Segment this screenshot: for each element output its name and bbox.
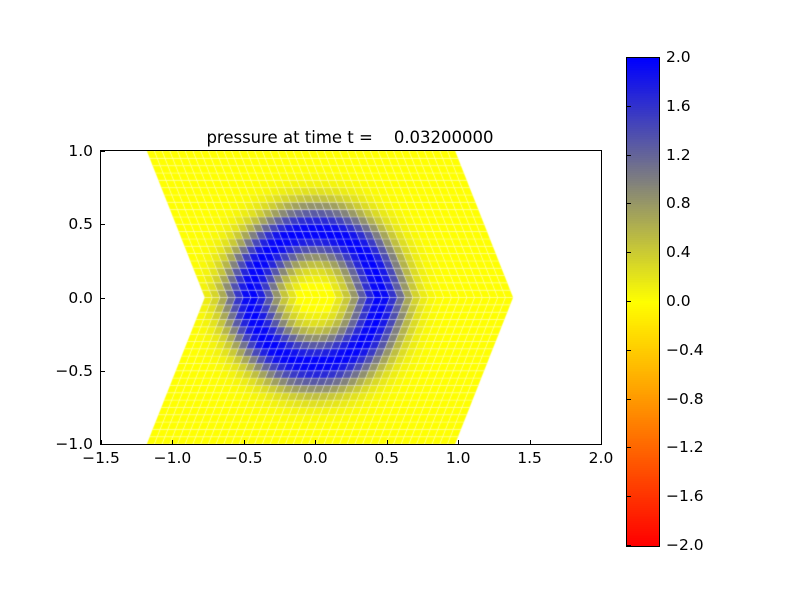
- colorbar-tickmark: [626, 545, 631, 546]
- colorbar-tickmark: [626, 155, 631, 156]
- colorbar-tick-label: 2.0: [666, 49, 691, 65]
- y-tickmark: [101, 371, 105, 372]
- y-tickmark: [101, 224, 105, 225]
- y-tickmark: [101, 298, 105, 299]
- colorbar-gradient: [627, 58, 659, 546]
- colorbar-tick-label: −1.2: [666, 439, 704, 455]
- x-tick-label: 1.0: [428, 450, 488, 466]
- colorbar-tickmark: [626, 57, 631, 58]
- colorbar-tick-label: −1.6: [666, 488, 704, 504]
- y-tick-label: 0.5: [39, 216, 93, 232]
- colorbar-tick-label: 0.8: [666, 195, 691, 211]
- x-tickmark: [458, 440, 459, 444]
- colorbar-tick-label: 1.2: [666, 147, 691, 163]
- x-tickmark: [530, 440, 531, 444]
- y-tick-label: 0.0: [39, 290, 93, 306]
- x-tick-label: 1.5: [500, 450, 560, 466]
- colorbar-tick-label: 0.4: [666, 244, 691, 260]
- x-tickmark: [172, 440, 173, 444]
- colorbar-tickmark: [626, 350, 631, 351]
- colorbar-tick-label: −0.4: [666, 342, 704, 358]
- x-tick-label: −0.5: [214, 450, 274, 466]
- x-tick-label: 0.5: [357, 450, 417, 466]
- colorbar-tickmark: [626, 252, 631, 253]
- main-plot-axes[interactable]: [100, 150, 602, 445]
- colorbar-tick-label: 1.6: [666, 98, 691, 114]
- page-title: pressure at time t = 0.03200000: [100, 128, 600, 148]
- colorbar-tickmark: [626, 301, 631, 302]
- x-tick-label: 2.0: [571, 450, 631, 466]
- pressure-field-heatmap: [101, 151, 601, 444]
- y-tickmark: [101, 444, 105, 445]
- y-tickmark: [101, 151, 105, 152]
- colorbar-tick-label: −2.0: [666, 537, 704, 553]
- figure-canvas: pressure at time t = 0.03200000 −1.5−1.0…: [0, 0, 800, 600]
- y-tick-label: −0.5: [39, 363, 93, 379]
- colorbar[interactable]: [626, 57, 660, 547]
- colorbar-tickmark: [626, 399, 631, 400]
- x-tickmark: [315, 440, 316, 444]
- colorbar-tickmark: [626, 106, 631, 107]
- y-tick-label: 1.0: [39, 143, 93, 159]
- x-tick-label: 0.0: [285, 450, 345, 466]
- colorbar-tickmark: [626, 203, 631, 204]
- x-tickmark: [387, 440, 388, 444]
- colorbar-tick-label: 0.0: [666, 293, 691, 309]
- x-tickmark: [244, 440, 245, 444]
- x-tick-label: −1.0: [142, 450, 202, 466]
- colorbar-tickmark: [626, 447, 631, 448]
- y-tick-label: −1.0: [39, 436, 93, 452]
- colorbar-tickmark: [626, 496, 631, 497]
- x-tickmark: [601, 440, 602, 444]
- colorbar-tick-label: −0.8: [666, 391, 704, 407]
